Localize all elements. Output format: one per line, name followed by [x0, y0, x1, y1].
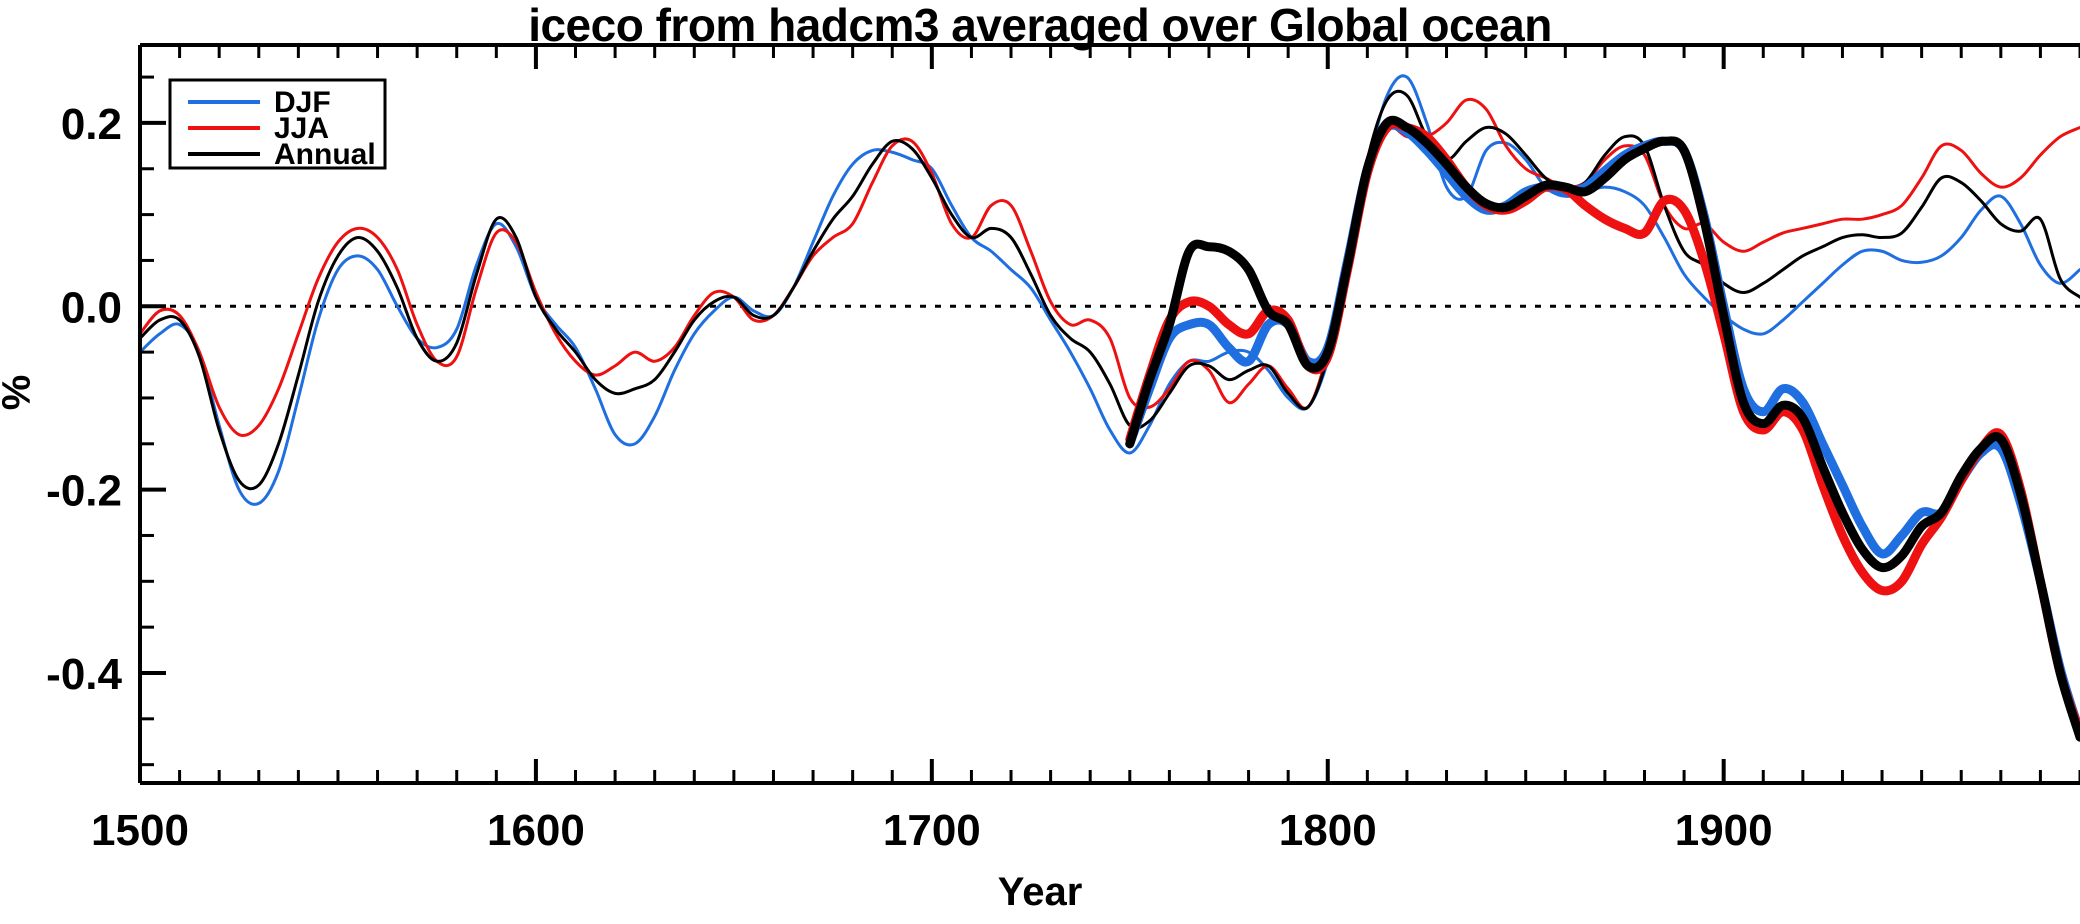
legend: DJFJJAAnnual — [170, 80, 385, 171]
series-line — [140, 76, 2080, 505]
series-line — [1130, 124, 2080, 733]
series-line — [1130, 120, 2080, 737]
y-tick-label: 0.0 — [61, 283, 122, 332]
y-tick-label: 0.2 — [61, 100, 122, 149]
y-tick-label: -0.4 — [46, 650, 122, 699]
legend-label: Annual — [274, 138, 376, 171]
y-tick-label: -0.2 — [46, 467, 122, 516]
x-tick-label: 1800 — [1279, 806, 1377, 855]
x-tick-label: 1900 — [1675, 806, 1773, 855]
x-tick-label: 1500 — [91, 806, 189, 855]
y-axis-ticks — [140, 77, 166, 765]
plot-area: 150016001700180019000.20.0-0.2-0.4DJFJJA… — [0, 0, 2080, 924]
x-tick-label: 1700 — [883, 806, 981, 855]
chart-figure: iceco from hadcm3 averaged over Global o… — [0, 0, 2080, 924]
x-tick-label: 1600 — [487, 806, 585, 855]
